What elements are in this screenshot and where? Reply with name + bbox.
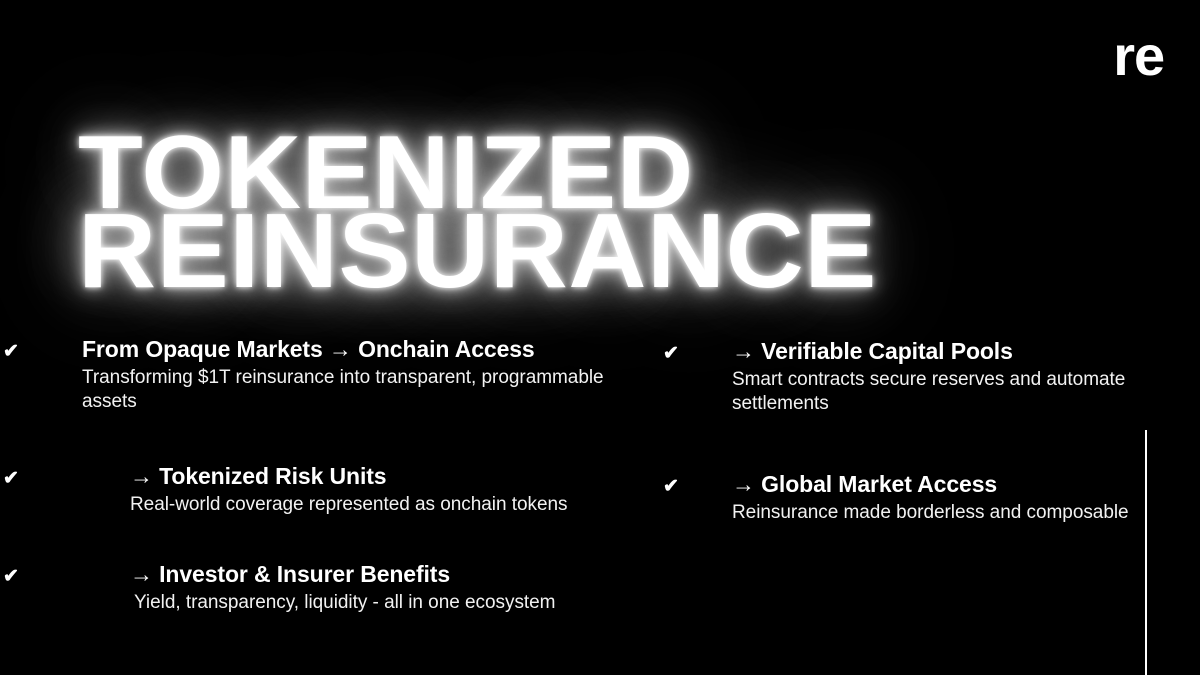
vertical-divider [1145,430,1147,675]
list-item-subtext: Smart contracts secure reserves and auto… [732,368,1130,417]
list-item-heading: → Global Market Access [732,471,1130,498]
check-icon: ✔ [660,344,682,363]
list-item-body: → Global Market Access Reinsurance made … [732,471,1130,525]
list-item: ✔ → Investor & Insurer Benefits Yield, t… [0,561,660,615]
list-item: ✔ → Tokenized Risk Units Real-world cove… [0,463,660,517]
title-line-2: REINSURANCE [78,209,996,294]
list-item-subtext: Yield, transparency, liquidity - all in … [130,591,660,615]
list-item-subtext: Transforming $1T reinsurance into transp… [82,366,660,415]
check-icon: ✔ [660,477,682,496]
slide-canvas: re TOKENIZED REINSURANCE ✔ From Opaque M… [0,0,1200,675]
bullet-columns: ✔ From Opaque Markets → Onchain Access T… [0,336,1200,638]
check-icon: ✔ [0,342,22,361]
list-item-heading: → Tokenized Risk Units [130,463,660,490]
list-item: ✔ From Opaque Markets → Onchain Access T… [0,336,660,415]
check-icon: ✔ [0,567,22,586]
left-column: ✔ From Opaque Markets → Onchain Access T… [0,336,660,638]
list-item-body: → Investor & Insurer Benefits Yield, tra… [82,561,660,615]
list-item-heading: → Investor & Insurer Benefits [130,561,660,588]
list-item: ✔ → Verifiable Capital Pools Smart contr… [660,338,1130,417]
page-title: TOKENIZED REINSURANCE [78,132,978,294]
brand-logo: re [1113,28,1164,84]
list-item: ✔ → Global Market Access Reinsurance mad… [660,471,1130,525]
list-item-body: → Tokenized Risk Units Real-world covera… [82,463,660,517]
list-item-body: From Opaque Markets → Onchain Access Tra… [82,336,660,415]
list-item-subtext: Reinsurance made borderless and composab… [732,501,1130,525]
list-item-heading: → Verifiable Capital Pools [732,338,1130,365]
check-icon: ✔ [0,469,22,488]
list-item-heading: From Opaque Markets → Onchain Access [82,336,660,363]
list-item-subtext: Real-world coverage represented as oncha… [130,493,660,517]
list-item-body: → Verifiable Capital Pools Smart contrac… [732,338,1130,417]
right-column: ✔ → Verifiable Capital Pools Smart contr… [660,336,1130,638]
